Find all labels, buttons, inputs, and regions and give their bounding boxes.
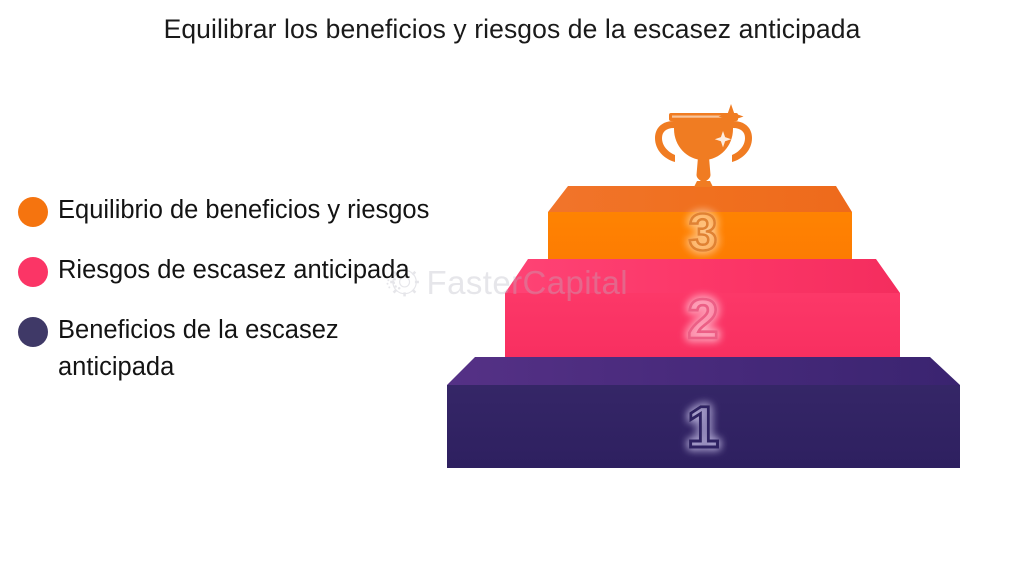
- legend-item-label: Beneficios de la escasez anticipada: [58, 312, 433, 384]
- page-title: Equilibrar los beneficios y riesgos de l…: [0, 13, 1024, 46]
- podium-step-1-top-face: [447, 357, 960, 385]
- legend-item-label: Equilibrio de beneficios y riesgos: [58, 192, 433, 228]
- legend-item-equilibrio[interactable]: Equilibrio de beneficios y riesgos: [18, 192, 433, 228]
- podium-step-3-number: 3: [689, 204, 718, 262]
- circle-bullet-icon: [18, 197, 48, 227]
- podium-step-3-front-face: [548, 212, 852, 259]
- podium-step-3-top-face: [548, 186, 852, 212]
- trophy-icon: [655, 104, 752, 187]
- podium-step-3: 3: [548, 186, 852, 262]
- legend-item-label: Riesgos de escasez anticipada: [58, 252, 433, 288]
- legend-item-beneficios[interactable]: Beneficios de la escasez anticipada: [18, 312, 433, 384]
- podium-step-1: 1: [447, 357, 960, 468]
- circle-bullet-icon: [18, 317, 48, 347]
- podium-step-1-front-face: [447, 385, 960, 468]
- slide-canvas: Equilibrar los beneficios y riesgos de l…: [0, 0, 1024, 576]
- podium-step-2-number: 2: [687, 287, 718, 350]
- podium-step-1-number: 1: [687, 395, 719, 460]
- circle-bullet-icon: [18, 257, 48, 287]
- legend-item-riesgos[interactable]: Riesgos de escasez anticipada: [18, 252, 433, 288]
- watermark-text: FasterCapital: [427, 266, 628, 299]
- legend-list: Equilibrio de beneficios y riesgos Riesg…: [18, 192, 433, 409]
